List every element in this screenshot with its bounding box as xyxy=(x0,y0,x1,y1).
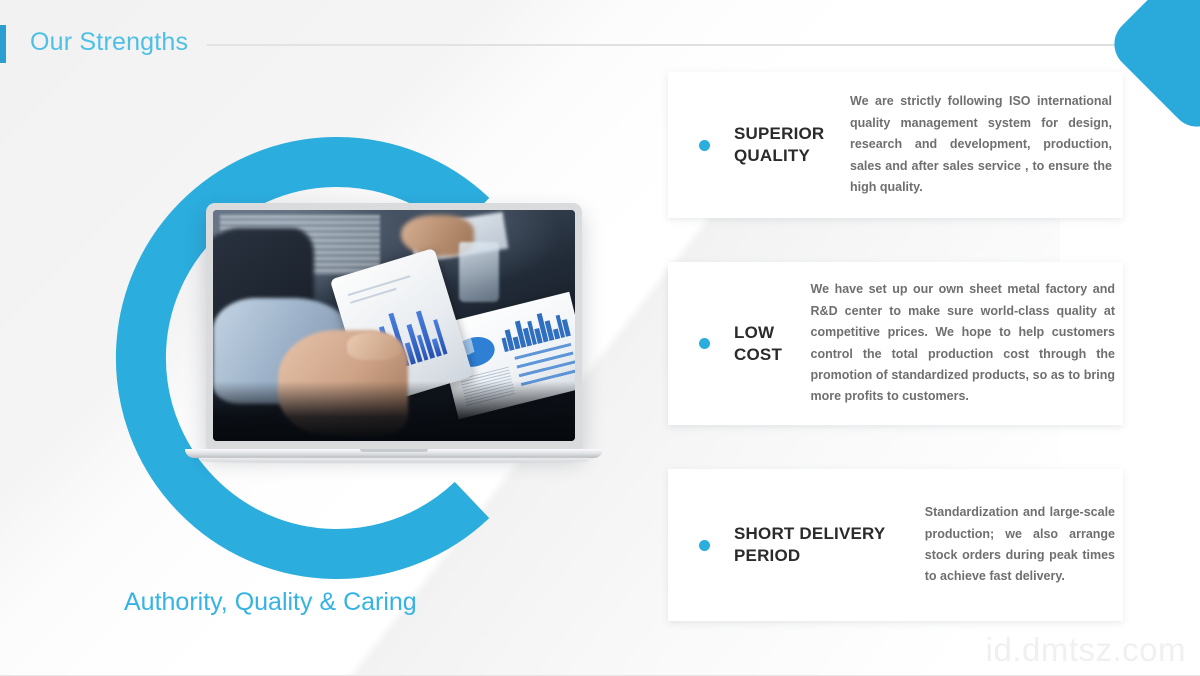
card-title: SHORT DELIVERY PERIOD xyxy=(734,523,905,567)
header-accent-bar xyxy=(0,25,6,63)
strengths-card-list: SUPERIOR QUALITY We are strictly followi… xyxy=(668,72,1123,621)
tagline: Authority, Quality & Caring xyxy=(124,588,417,617)
site-watermark: id.dmtsz.com xyxy=(986,631,1186,669)
slide-canvas: Our Strengths xyxy=(0,0,1200,676)
card-title: SUPERIOR QUALITY xyxy=(734,123,832,167)
card-title: LOW COST xyxy=(734,322,795,366)
laptop-base xyxy=(185,449,603,458)
strength-card[interactable]: SUPERIOR QUALITY We are strictly followi… xyxy=(668,72,1123,218)
card-body: Standardization and large-scale producti… xyxy=(925,502,1115,588)
laptop-mockup xyxy=(206,203,582,450)
laptop-foot xyxy=(200,458,588,463)
strength-card[interactable]: SHORT DELIVERY PERIOD Standardization an… xyxy=(668,469,1123,621)
bullet-dot-icon xyxy=(699,140,710,151)
meeting-photo xyxy=(213,210,575,441)
laptop-screen xyxy=(213,210,575,441)
bullet-dot-icon xyxy=(699,540,710,551)
card-body: We have set up our own sheet metal facto… xyxy=(811,279,1115,407)
header-divider-line xyxy=(207,44,1127,46)
strength-card[interactable]: LOW COST We have set up our own sheet me… xyxy=(668,262,1123,425)
card-body: We are strictly following ISO internatio… xyxy=(850,91,1112,198)
page-title: Our Strengths xyxy=(30,28,188,57)
laptop-lid xyxy=(206,203,582,450)
bullet-dot-icon xyxy=(699,338,710,349)
